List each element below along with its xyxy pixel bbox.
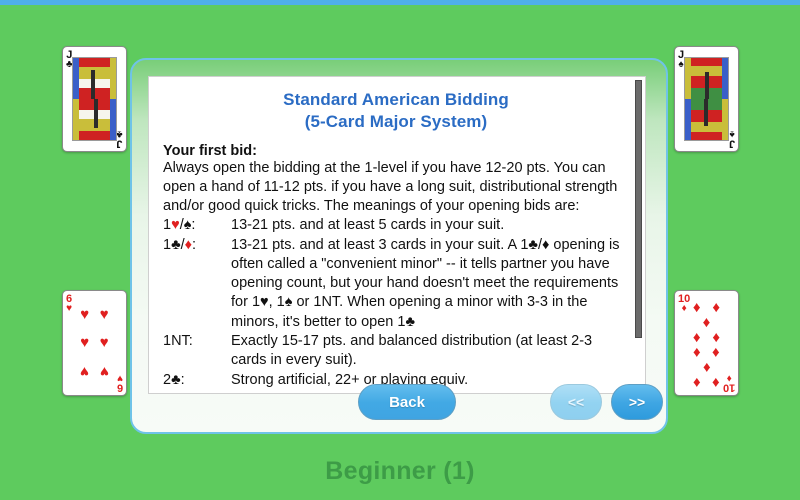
heart-icon: ♥ (100, 335, 109, 350)
back-button[interactable]: Back (358, 384, 456, 420)
bid-row: 1♣/♦: 13-21 pts. and at least 3 cards in… (163, 236, 629, 332)
club-icon: ♣ (116, 129, 123, 138)
card-jack-of-clubs[interactable]: J ♣ J ♣ (62, 46, 127, 152)
diamond-icon: ♦ (682, 304, 687, 313)
lesson-title-line1: Standard American Bidding (283, 90, 509, 109)
spade-icon: ♠ (729, 129, 734, 138)
top-accent-strip (0, 0, 800, 5)
card-corner-bottom-right: J ♣ (116, 129, 123, 148)
lesson-content-box: Standard American Bidding (5-Card Major … (148, 76, 646, 394)
heart-icon: ♥ (80, 335, 89, 350)
diamond-icon: ♦ (693, 330, 701, 345)
card-corner-top-left: 6 ♥ (66, 294, 72, 313)
next-page-button[interactable]: >> (611, 384, 663, 420)
card-corner-bottom-right: 6 ♥ (117, 373, 123, 392)
bid-label: 1♥/♠: (163, 216, 231, 235)
card-rank: J (729, 138, 735, 148)
card-rank: 6 (117, 382, 123, 392)
bid-description: 13-21 pts. and at least 3 cards in your … (231, 236, 629, 332)
lesson-panel: Standard American Bidding (5-Card Major … (130, 58, 668, 434)
face-card-artwork (72, 57, 117, 141)
diamond-icon: ♦ (712, 300, 720, 315)
face-card-artwork (684, 57, 729, 141)
bid-label: 1♣/♦: (163, 236, 231, 332)
bid-row: 1NT: Exactly 15-17 pts. and balanced dis… (163, 332, 629, 371)
lesson-document: Standard American Bidding (5-Card Major … (149, 77, 645, 390)
heart-icon: ♥ (66, 304, 72, 313)
scrollbar-thumb[interactable] (635, 80, 642, 338)
bid-description: Exactly 15-17 pts. and balanced distribu… (231, 332, 629, 371)
card-pips: ♥ ♥ ♥ ♥ ♥ ♥ (75, 300, 114, 386)
diamond-icon: ♦ (703, 315, 711, 330)
previous-page-button[interactable]: << (550, 384, 602, 420)
spade-icon: ♠ (678, 60, 683, 69)
diamond-icon: ♦ (712, 330, 720, 345)
card-jack-of-spades[interactable]: J ♠ J ♠ (674, 46, 739, 152)
card-six-of-hearts[interactable]: 6 ♥ 6 ♥ ♥ ♥ ♥ ♥ ♥ ♥ (62, 290, 127, 396)
heart-icon: ♥ (117, 373, 123, 382)
heart-icon: ♥ (80, 307, 89, 322)
lesson-title-line2: (5-Card Major System) (163, 111, 629, 133)
heart-icon: ♥ (80, 364, 89, 379)
button-bar: Back << >> (132, 382, 666, 426)
level-label: Beginner (1) (0, 457, 800, 486)
diamond-icon: ♦ (693, 300, 701, 315)
card-pips: ♦ ♦ ♦ ♦ ♦ ♦ ♦ ♦ ♦ ♦ (687, 300, 726, 386)
diamond-icon: ♦ (726, 373, 731, 382)
heart-icon: ♥ (100, 307, 109, 322)
diamond-icon: ♦ (712, 375, 720, 390)
intro-paragraph: Always open the bidding at the 1-level i… (163, 159, 629, 217)
bottom-accent-strip (0, 496, 800, 500)
lesson-title: Standard American Bidding (5-Card Major … (163, 89, 629, 133)
diamond-icon: ♦ (712, 345, 720, 360)
app-root: J ♣ J ♣ (0, 0, 800, 500)
diamond-icon: ♦ (703, 360, 711, 375)
diamond-icon: ♦ (693, 375, 701, 390)
heart-icon: ♥ (100, 364, 109, 379)
card-ten-of-diamonds[interactable]: 10 ♦ 10 ♦ ♦ ♦ ♦ ♦ ♦ ♦ ♦ ♦ ♦ ♦ (674, 290, 739, 396)
card-corner-bottom-right: J ♠ (729, 129, 735, 148)
diamond-icon: ♦ (693, 345, 701, 360)
bid-label: 1NT: (163, 332, 231, 371)
card-rank: J (117, 138, 123, 148)
section-heading: Your first bid: (163, 143, 629, 159)
scrollbar-track[interactable] (635, 78, 644, 394)
bid-description: 13-21 pts. and at least 5 cards in your … (231, 216, 629, 235)
bid-row: 1♥/♠: 13-21 pts. and at least 5 cards in… (163, 216, 629, 235)
